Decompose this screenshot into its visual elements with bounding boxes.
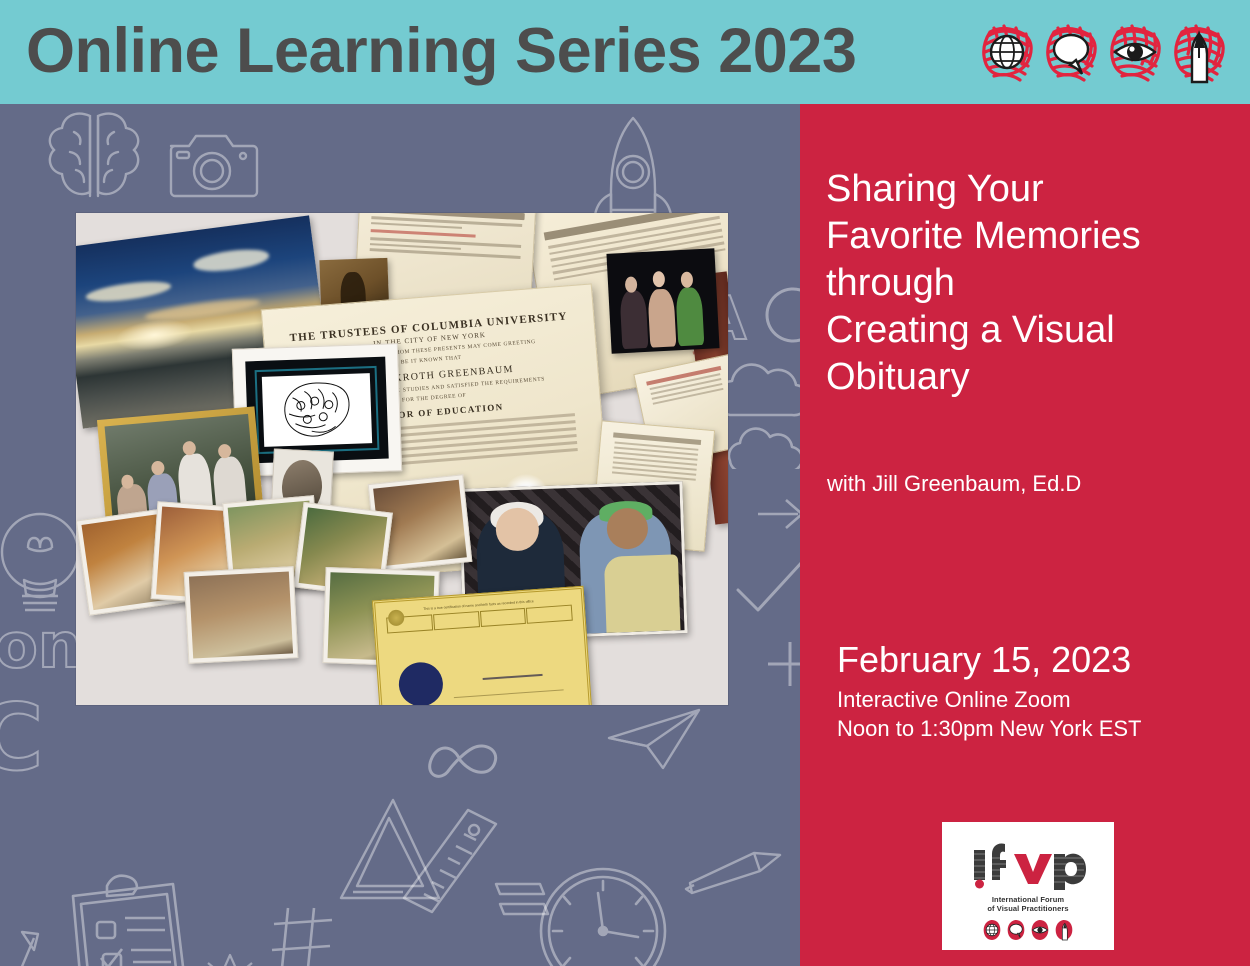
- ruler-doodle: [398, 804, 508, 919]
- hashtag-doodle: [268, 902, 338, 966]
- event-format: Interactive Online Zoom: [837, 686, 1071, 714]
- session-title: Sharing Your Favorite Memories through C…: [826, 166, 1246, 401]
- doodle-text-ion: ion: [0, 609, 82, 682]
- doodle-text-c: C: [0, 684, 44, 791]
- session-title-line-4: Creating a Visual: [826, 307, 1246, 354]
- flyer-canvas: ion C: [0, 0, 1250, 966]
- letter-c-doodle: [745, 269, 800, 359]
- speech-bubble-icon: [1044, 18, 1100, 86]
- eye-icon: [1108, 18, 1164, 86]
- header-icon-row: [980, 18, 1228, 86]
- event-date: February 15, 2023: [837, 638, 1131, 682]
- page-title: Online Learning Series 2023: [26, 14, 856, 88]
- event-time: Noon to 1:30pm New York EST: [837, 715, 1142, 743]
- header-band: Online Learning Series 2023: [0, 0, 1250, 104]
- birth-certificate: This is a true certification of name and…: [372, 586, 592, 705]
- session-title-line-3: through: [826, 260, 1246, 307]
- ifvp-tagline-line-1: International Forum: [987, 895, 1068, 905]
- infinity-doodle: [415, 734, 505, 786]
- info-panel: Sharing Your Favorite Memories through C…: [800, 104, 1250, 966]
- ifvp-tagline-line-2: of Visual Practitioners: [987, 904, 1068, 914]
- globe-icon: [980, 18, 1036, 86]
- plus-doodle: [760, 634, 800, 694]
- globe-icon: [982, 919, 1002, 941]
- session-title-line-2: Favorite Memories: [826, 213, 1246, 260]
- clock-doodle: [528, 859, 678, 966]
- ifvp-logo-icons: [982, 919, 1074, 941]
- ifvp-tagline: International Forum of Visual Practition…: [987, 895, 1068, 914]
- speech-bubble-icon: [1006, 919, 1026, 941]
- presenter-name: with Jill Greenbaum, Ed.D: [827, 471, 1081, 497]
- ifvp-logo: International Forum of Visual Practition…: [942, 822, 1114, 950]
- ifvp-wordmark: [968, 836, 1088, 892]
- clipboard-doodle: [55, 874, 200, 966]
- eye-icon: [1030, 919, 1050, 941]
- paper-plane-doodle: [605, 704, 705, 774]
- pen-nib-hand-icon: [1054, 919, 1074, 941]
- arrow-up-doodle: [0, 924, 50, 966]
- pencil-doodle: [680, 849, 785, 924]
- arrow-right-doodle: [752, 484, 800, 544]
- brain-doodle: [40, 108, 150, 208]
- star-doodle: [200, 949, 260, 966]
- camera-doodle: [165, 124, 260, 204]
- equals-doodle: [490, 864, 560, 924]
- pen-nib-hand-icon: [1172, 18, 1228, 86]
- vintage-photo-5: [184, 566, 299, 664]
- session-title-line-5: Obituary: [826, 354, 1246, 401]
- checkmark-doodle: [730, 554, 800, 624]
- memory-photo-collage: THE TRUSTEES OF COLUMBIA UNIVERSITY IN T…: [76, 213, 728, 705]
- triangle-ruler-doodle: [335, 794, 445, 914]
- group-photo-dark: [606, 248, 719, 354]
- session-title-line-1: Sharing Your: [826, 166, 1246, 213]
